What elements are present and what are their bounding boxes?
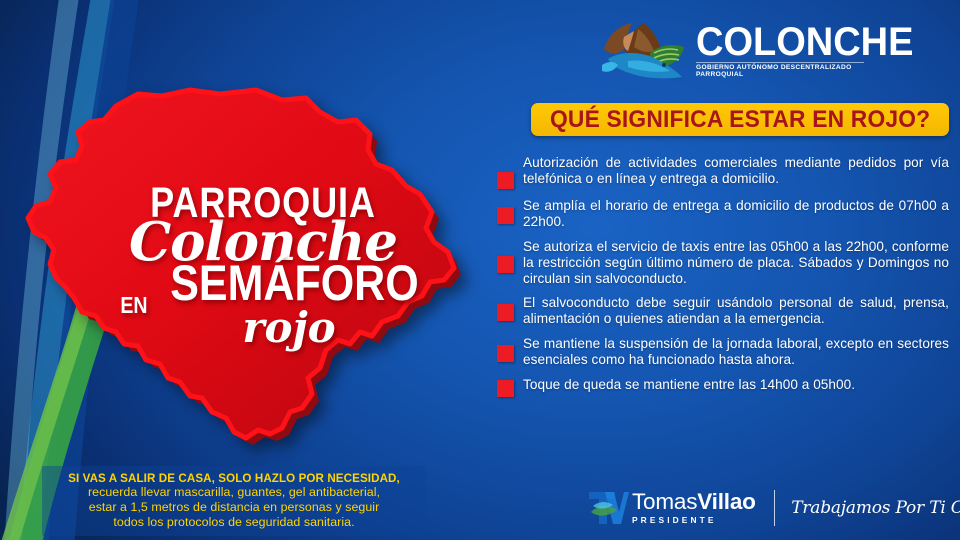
advisory-line-1: recuerda llevar mascarilla, guantes, gel… [48,485,420,500]
bullet-square-icon [497,256,514,273]
bullet-square-icon [497,345,514,362]
footer-signature: TomasVillao PRESIDENTE Trabajamos Por Ti… [585,486,960,530]
list-item: Autorización de actividades comerciales … [497,155,949,189]
list-item-text: Se mantiene la suspensión de la jornada … [523,336,949,368]
list-item-text: El salvoconducto debe seguir usándolo pe… [523,295,949,327]
poster-canvas: PARROQUIA Colonche ENSEMÁFORO rojo SI VA… [0,0,960,540]
brand-text-block: COLONCHE GOBIERNO AUTÓNOMO DESCENTRALIZA… [696,24,925,78]
list-item: El salvoconducto debe seguir usándolo pe… [497,295,949,327]
bullet-square-icon [497,380,514,397]
bullet-square-icon [497,207,514,224]
list-item-text: Toque de queda se mantiene entre las 14h… [523,377,949,393]
bullet-square-icon [497,304,514,321]
footer-slogan: Trabajamos Por Ti Colonche [791,498,960,518]
colonche-mountain-fish-emblem [598,19,690,83]
brand-header: COLONCHE GOBIERNO AUTÓNOMO DESCENTRALIZA… [598,18,925,84]
president-last-name: Villao [697,489,755,514]
list-item: Se amplía el horario de entrega a domici… [497,198,949,230]
advisory-heading: SI VAS A SALIR DE CASA, SOLO HAZLO POR N… [48,472,420,485]
advisory-line-2: estar a 1,5 metros de distancia en perso… [48,500,420,515]
headline-semaforo: SEMÁFORO [170,258,418,308]
list-item-text: Se amplía el horario de entrega a domici… [523,198,949,230]
president-role: PRESIDENTE [632,515,756,525]
brand-title: COLONCHE [696,24,913,61]
signature-names: TomasVillao PRESIDENTE [632,491,756,526]
bullet-square-icon [497,172,514,189]
advisory-box: SI VAS A SALIR DE CASA, SOLO HAZLO POR N… [42,466,426,536]
tomas-villao-tv-monogram [585,486,629,530]
section-banner-title: QUÉ SIGNIFICA ESTAR EN ROJO? [550,106,930,134]
president-name: TomasVillao [632,491,756,514]
list-item-text: Autorización de actividades comerciales … [523,155,949,187]
main-headline: PARROQUIA Colonche ENSEMÁFORO rojo [118,182,408,349]
list-item: Se autoriza el servicio de taxis entre l… [497,239,949,287]
list-item-text: Se autoriza el servicio de taxis entre l… [523,239,949,287]
headline-semaforo-row: ENSEMÁFORO [118,258,408,317]
headline-en: EN [120,294,147,317]
measures-list: Autorización de actividades comerciales … [497,155,949,406]
president-first-name: Tomas [632,489,697,514]
list-item: Se mantiene la suspensión de la jornada … [497,336,949,368]
brand-subtitle: GOBIERNO AUTÓNOMO DESCENTRALIZADO PARROQ… [696,62,864,79]
footer-divider [774,490,776,526]
section-banner: QUÉ SIGNIFICA ESTAR EN ROJO? [531,103,949,136]
list-item: Toque de queda se mantiene entre las 14h… [497,377,949,397]
headline-parroquia: PARROQUIA [141,182,385,225]
advisory-line-3: todos los protocolos de seguridad sanita… [48,515,420,530]
